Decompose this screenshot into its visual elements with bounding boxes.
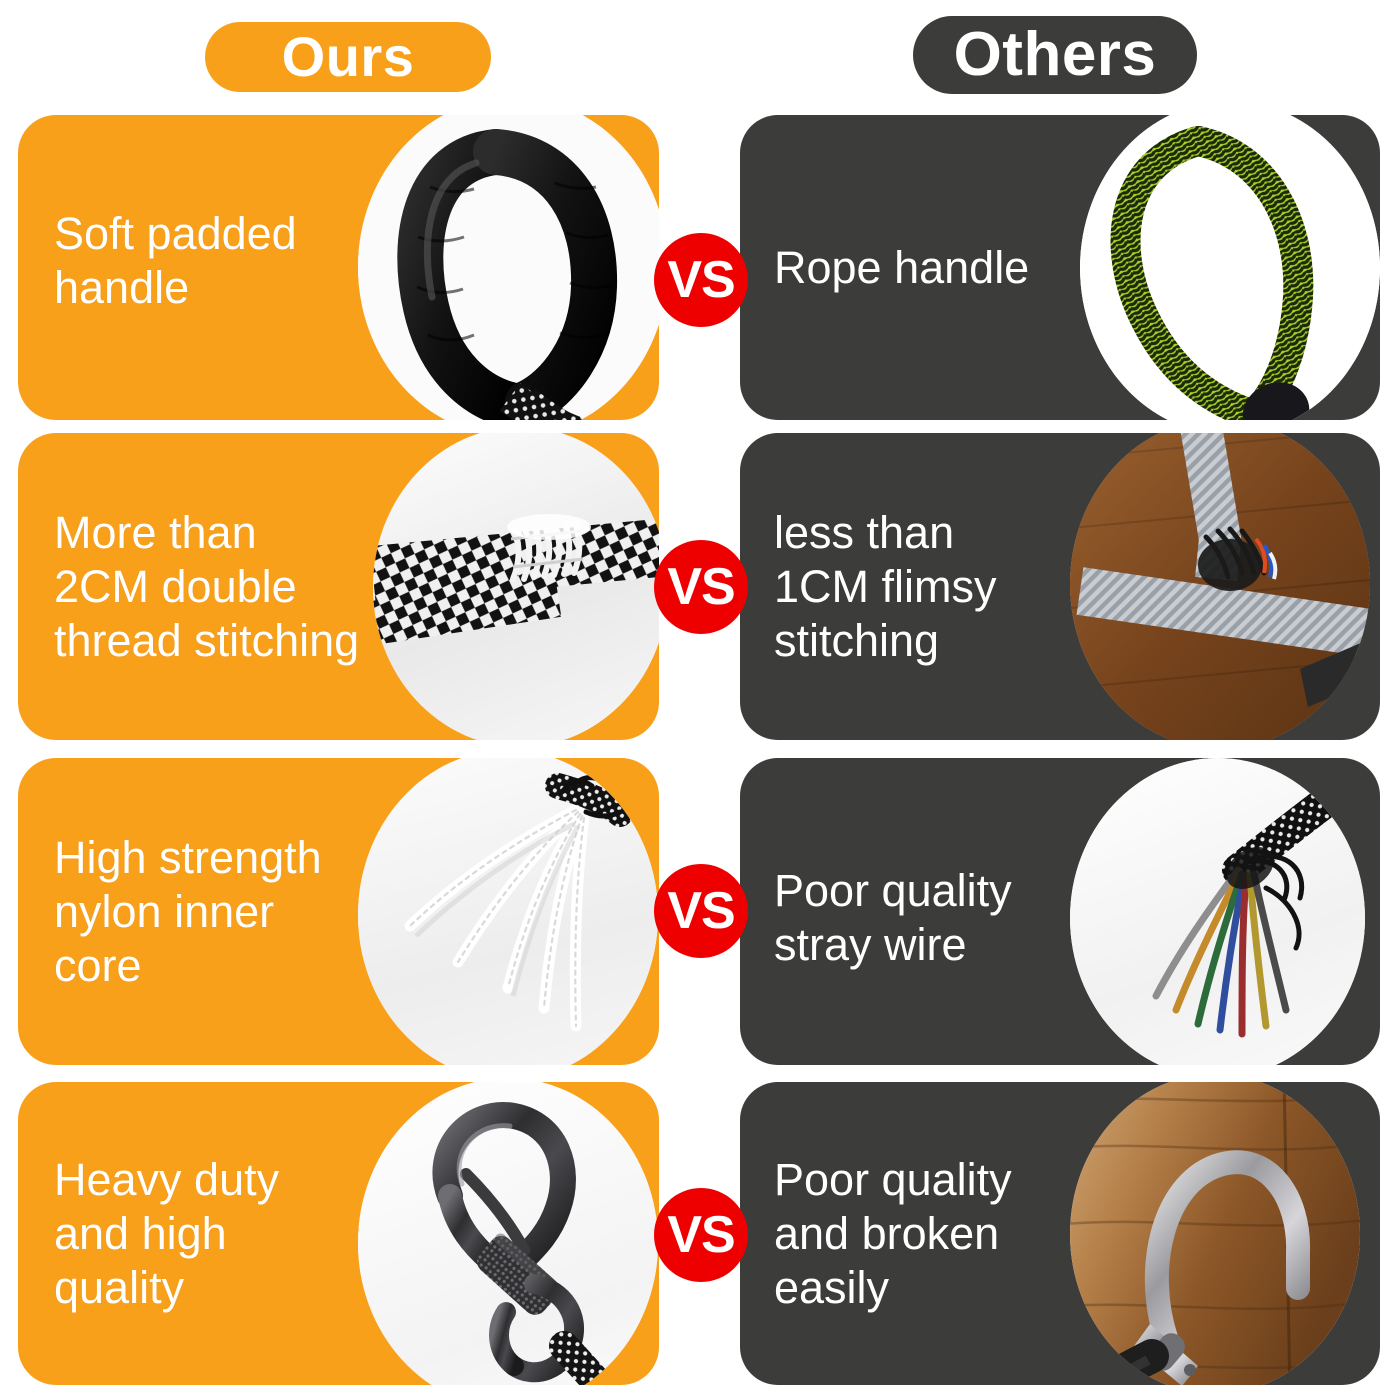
vs-badge-row-3: VS [654, 864, 748, 958]
photo-green-rope-handle [1080, 115, 1380, 420]
photo-stray-wire [1070, 758, 1365, 1065]
comparison-infographic: Ours Others Soft padded handle [0, 0, 1400, 1400]
header-pill-others: Others [913, 16, 1197, 94]
header-label-others: Others [954, 24, 1157, 86]
vs-badge-row-1: VS [654, 233, 748, 327]
card-ours-row-3: High strength nylon inner core [18, 758, 659, 1065]
card-ours-text-1: Soft padded handle [54, 207, 297, 315]
card-ours-row-1: Soft padded handle [18, 115, 659, 420]
broken-clasp-illustration [1070, 1082, 1360, 1385]
photo-flimsy-stitching [1070, 433, 1370, 740]
card-ours-row-2: More than 2CM double thread stitching [18, 433, 659, 740]
vs-label-3: VS [667, 885, 734, 937]
photo-broken-clasp [1070, 1082, 1360, 1385]
card-others-text-4: Poor quality and broken easily [774, 1153, 1012, 1315]
padded-handle-illustration [358, 115, 659, 420]
card-others-row-2: less than 1CM flimsy stitching [740, 433, 1380, 740]
card-ours-text-2: More than 2CM double thread stitching [54, 506, 359, 668]
card-others-text-3: Poor quality stray wire [774, 864, 1012, 972]
card-others-row-4: Poor quality and broken easily [740, 1082, 1380, 1385]
stray-wire-illustration [1070, 758, 1365, 1065]
nylon-inner-core-illustration [358, 758, 658, 1065]
card-ours-text-4: Heavy duty and high quality [54, 1153, 279, 1315]
double-thread-stitching-illustration [373, 433, 659, 740]
header-pill-ours: Ours [205, 22, 491, 92]
flimsy-stitching-illustration [1070, 433, 1370, 740]
card-ours-text-3: High strength nylon inner core [54, 831, 322, 993]
vs-label-2: VS [667, 561, 734, 613]
card-others-row-1: Rope handle [740, 115, 1380, 420]
photo-padded-handle [358, 115, 659, 420]
vs-badge-row-4: VS [654, 1188, 748, 1282]
vs-label-4: VS [667, 1209, 734, 1261]
vs-label-1: VS [667, 254, 734, 306]
card-others-text-1: Rope handle [774, 241, 1029, 295]
card-ours-row-4: Heavy duty and high quality [18, 1082, 659, 1385]
vs-badge-row-2: VS [654, 540, 748, 634]
photo-heavy-duty-clasp [358, 1082, 658, 1385]
card-others-text-2: less than 1CM flimsy stitching [774, 506, 997, 668]
card-others-row-3: Poor quality stray wire [740, 758, 1380, 1065]
photo-nylon-inner-core [358, 758, 658, 1065]
green-rope-handle-illustration [1080, 115, 1380, 420]
heavy-duty-clasp-illustration [358, 1082, 658, 1385]
header-label-ours: Ours [282, 29, 415, 85]
photo-double-thread-stitching [373, 433, 659, 740]
